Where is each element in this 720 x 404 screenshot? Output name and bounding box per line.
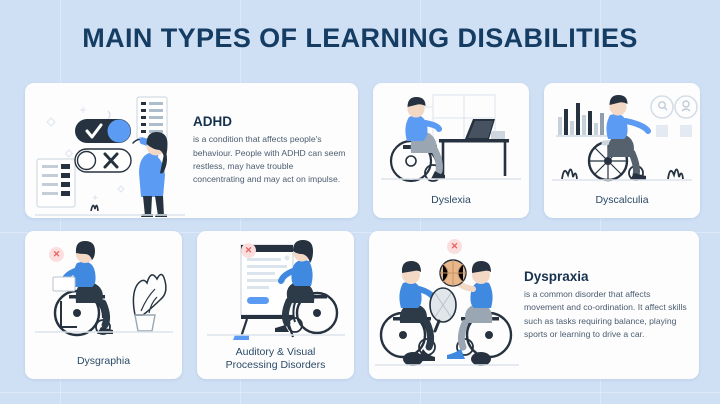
bar-chart-icon — [556, 103, 608, 136]
dyslexia-label: Dyslexia — [373, 194, 529, 207]
wheelchair-person — [589, 95, 648, 180]
auditory-visual-label: Auditory & Visual Processing Disorders — [197, 346, 354, 372]
auditory-visual-label-line1: Auditory & Visual — [236, 346, 316, 358]
dysgraphia-label: Dysgraphia — [25, 355, 182, 368]
dyslexia-illustration — [373, 83, 529, 195]
page-title: MAIN TYPES OF LEARNING DISABILITIES — [0, 22, 720, 54]
dyspraxia-art-svg — [369, 231, 524, 379]
card-dysgraphia[interactable]: ✕ — [25, 231, 182, 379]
laptop-icon — [465, 119, 505, 139]
adhd-text-block: ADHD is a condition that affects people'… — [193, 114, 358, 187]
potted-plant-icon — [133, 274, 166, 331]
cards-row-2: ✕ — [25, 231, 700, 379]
x-badge-icon: ✕ — [447, 239, 462, 254]
auditory-visual-label-line2: Processing Disorders — [226, 359, 326, 371]
card-dyslexia[interactable]: Dyslexia — [373, 83, 529, 218]
dyspraxia-text-block: Dyspraxia is a common disorder that affe… — [524, 269, 699, 342]
x-badge-icon: ✕ — [241, 243, 256, 258]
card-adhd[interactable]: ADHD is a condition that affects people'… — [25, 83, 358, 218]
card-auditory-visual[interactable]: ✕ — [197, 231, 354, 379]
plant-icon-left — [562, 169, 577, 179]
woman-figure — [133, 132, 168, 217]
adhd-art-svg — [25, 83, 193, 218]
x-badge-icon: ✕ — [49, 247, 64, 262]
dysgraphia-illustration — [25, 231, 182, 349]
checklist-icon-bottom — [37, 159, 75, 207]
card-dyscalculia[interactable]: Dyscalculia — [544, 83, 700, 218]
wheelchair-person — [391, 97, 445, 181]
round-icon-group — [651, 96, 697, 137]
x-toggle-icon — [75, 149, 131, 172]
card-dyspraxia[interactable]: ✕ — [369, 231, 699, 379]
dyscalculia-illustration — [544, 83, 700, 195]
dyspraxia-illustration: ✕ — [369, 231, 524, 379]
adhd-body: is a condition that affects people's beh… — [193, 133, 346, 187]
auditory-visual-illustration — [197, 231, 354, 341]
desk-icon — [439, 139, 509, 176]
dyspraxia-body: is a common disorder that affects moveme… — [524, 288, 687, 342]
plant-icon-right — [668, 169, 683, 179]
dyspraxia-title: Dyspraxia — [524, 269, 687, 284]
cards-row-1: ADHD is a condition that affects people'… — [25, 83, 700, 218]
adhd-illustration — [25, 83, 193, 218]
dyscalculia-label: Dyscalculia — [544, 194, 700, 207]
infographic-page: MAIN TYPES OF LEARNING DISABILITIES — [0, 0, 720, 404]
checklist-icon-top — [137, 97, 167, 139]
person-badge-icon — [683, 101, 689, 107]
check-toggle-icon — [75, 119, 131, 143]
cards-grid: ADHD is a condition that affects people'… — [25, 83, 700, 379]
adhd-title: ADHD — [193, 114, 346, 129]
